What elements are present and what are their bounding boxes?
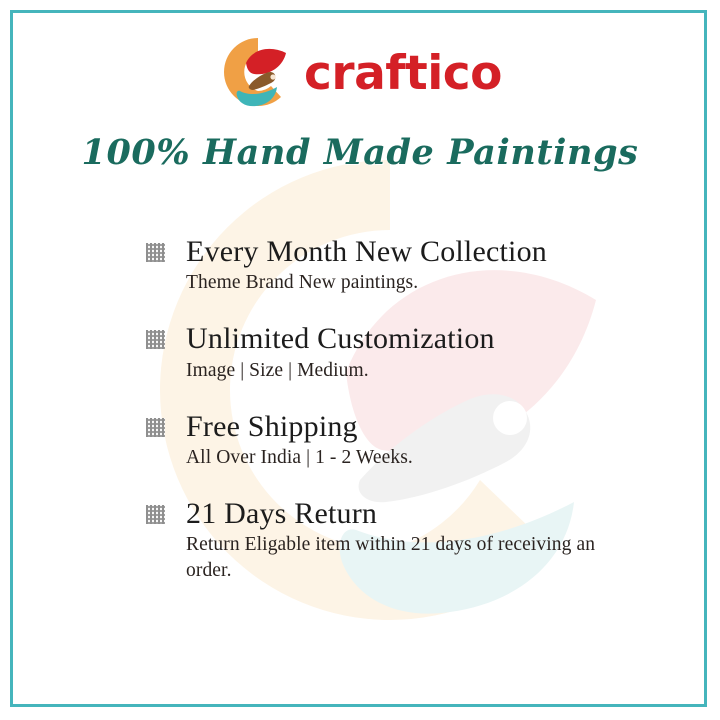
feature-title: 21 Days Return (186, 498, 616, 530)
feature-subtitle: Return Eligable item within 21 days of r… (186, 532, 616, 584)
brand-logo: craftico (0, 34, 720, 110)
feature-subtitle: All Over India | 1 - 2 Weeks. (186, 445, 616, 471)
feature-list: Every Month New Collection Theme Brand N… (146, 236, 616, 584)
woven-grid-bullet-icon (146, 418, 165, 437)
woven-grid-bullet-icon (146, 505, 165, 524)
feature-subtitle: Theme Brand New paintings. (186, 270, 616, 296)
brand-wordmark: craftico (304, 50, 502, 97)
feature-subtitle: Image | Size | Medium. (186, 358, 616, 384)
woven-grid-bullet-icon (146, 243, 165, 262)
list-item: 21 Days Return Return Eligable item with… (146, 498, 616, 584)
list-item: Every Month New Collection Theme Brand N… (146, 236, 616, 296)
feature-title: Unlimited Customization (186, 323, 616, 355)
feature-title: Free Shipping (186, 411, 616, 443)
page-title: 100% Hand Made Paintings (0, 132, 720, 173)
craftico-c-paintbrush-logo-icon (218, 36, 292, 108)
promo-card: craftico 100% Hand Made Paintings Every … (0, 0, 720, 720)
list-item: Free Shipping All Over India | 1 - 2 Wee… (146, 411, 616, 471)
feature-title: Every Month New Collection (186, 236, 616, 268)
list-item: Unlimited Customization Image | Size | M… (146, 323, 616, 383)
woven-grid-bullet-icon (146, 330, 165, 349)
